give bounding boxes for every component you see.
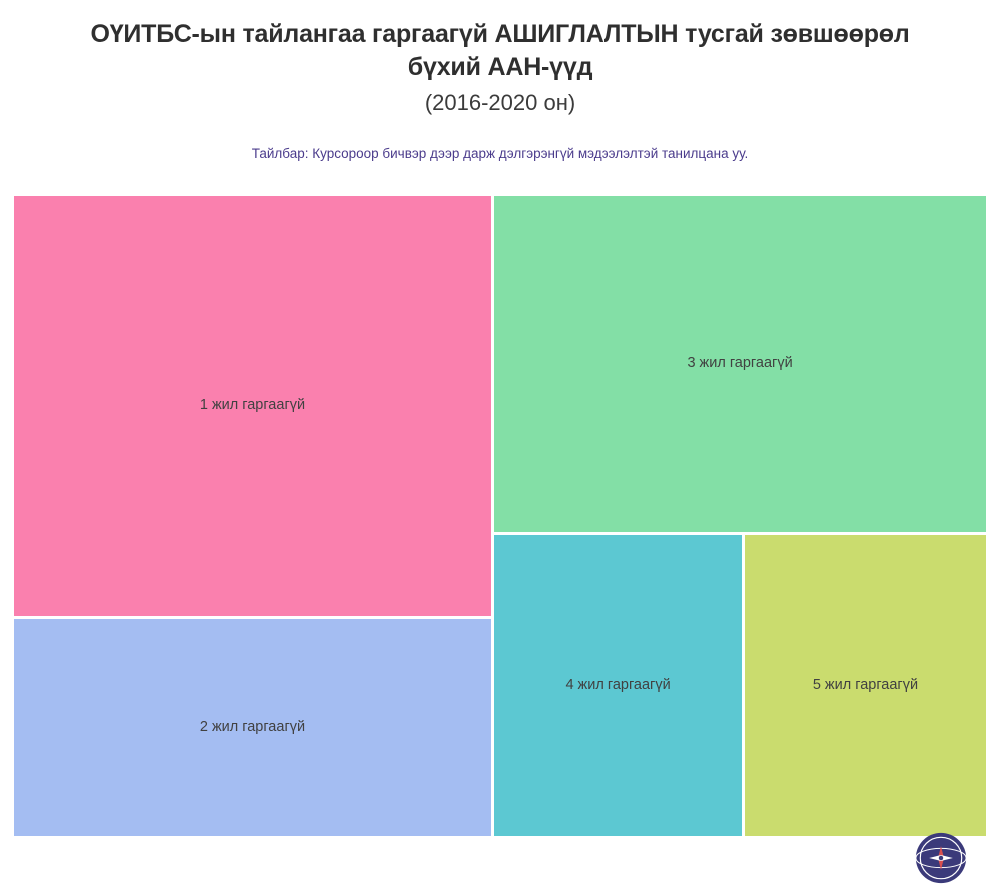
treemap-tile-label: 4 жил гаргаагүй	[559, 677, 676, 694]
treemap-tile-label: 3 жил гаргаагүй	[681, 355, 798, 372]
treemap-tile-4-zhil[interactable]: 4 жил гаргаагүй	[494, 535, 742, 836]
chart-instruction-note: Тайлбар: Курсороор бичвэр дээр дарж дэлг…	[60, 145, 940, 163]
treemap-tile-2-zhil[interactable]: 2 жил гаргаагүй	[14, 619, 491, 836]
chart-header: ОҮИТБС-ын тайлангаа гаргаагүй АШИГЛАЛТЫН…	[0, 0, 1000, 162]
treemap-tile-label: 2 жил гаргаагүй	[194, 719, 311, 736]
treemap-tile-label: 1 жил гаргаагүй	[194, 397, 311, 414]
treemap-chart: 1 жил гаргаагүй 2 жил гаргаагүй 3 жил га…	[14, 196, 986, 836]
treemap-tile-label: 5 жил гаргаагүй	[807, 677, 924, 694]
treemap-tile-3-zhil[interactable]: 3 жил гаргаагүй	[494, 196, 986, 532]
page-title: ОҮИТБС-ын тайлангаа гаргаагүй АШИГЛАЛТЫН…	[60, 18, 940, 83]
treemap-tile-5-zhil[interactable]: 5 жил гаргаагүй	[745, 535, 986, 836]
treemap-tile-1-zhil[interactable]: 1 жил гаргаагүй	[14, 196, 491, 616]
chart-period-label: (2016-2020 он)	[60, 89, 940, 117]
